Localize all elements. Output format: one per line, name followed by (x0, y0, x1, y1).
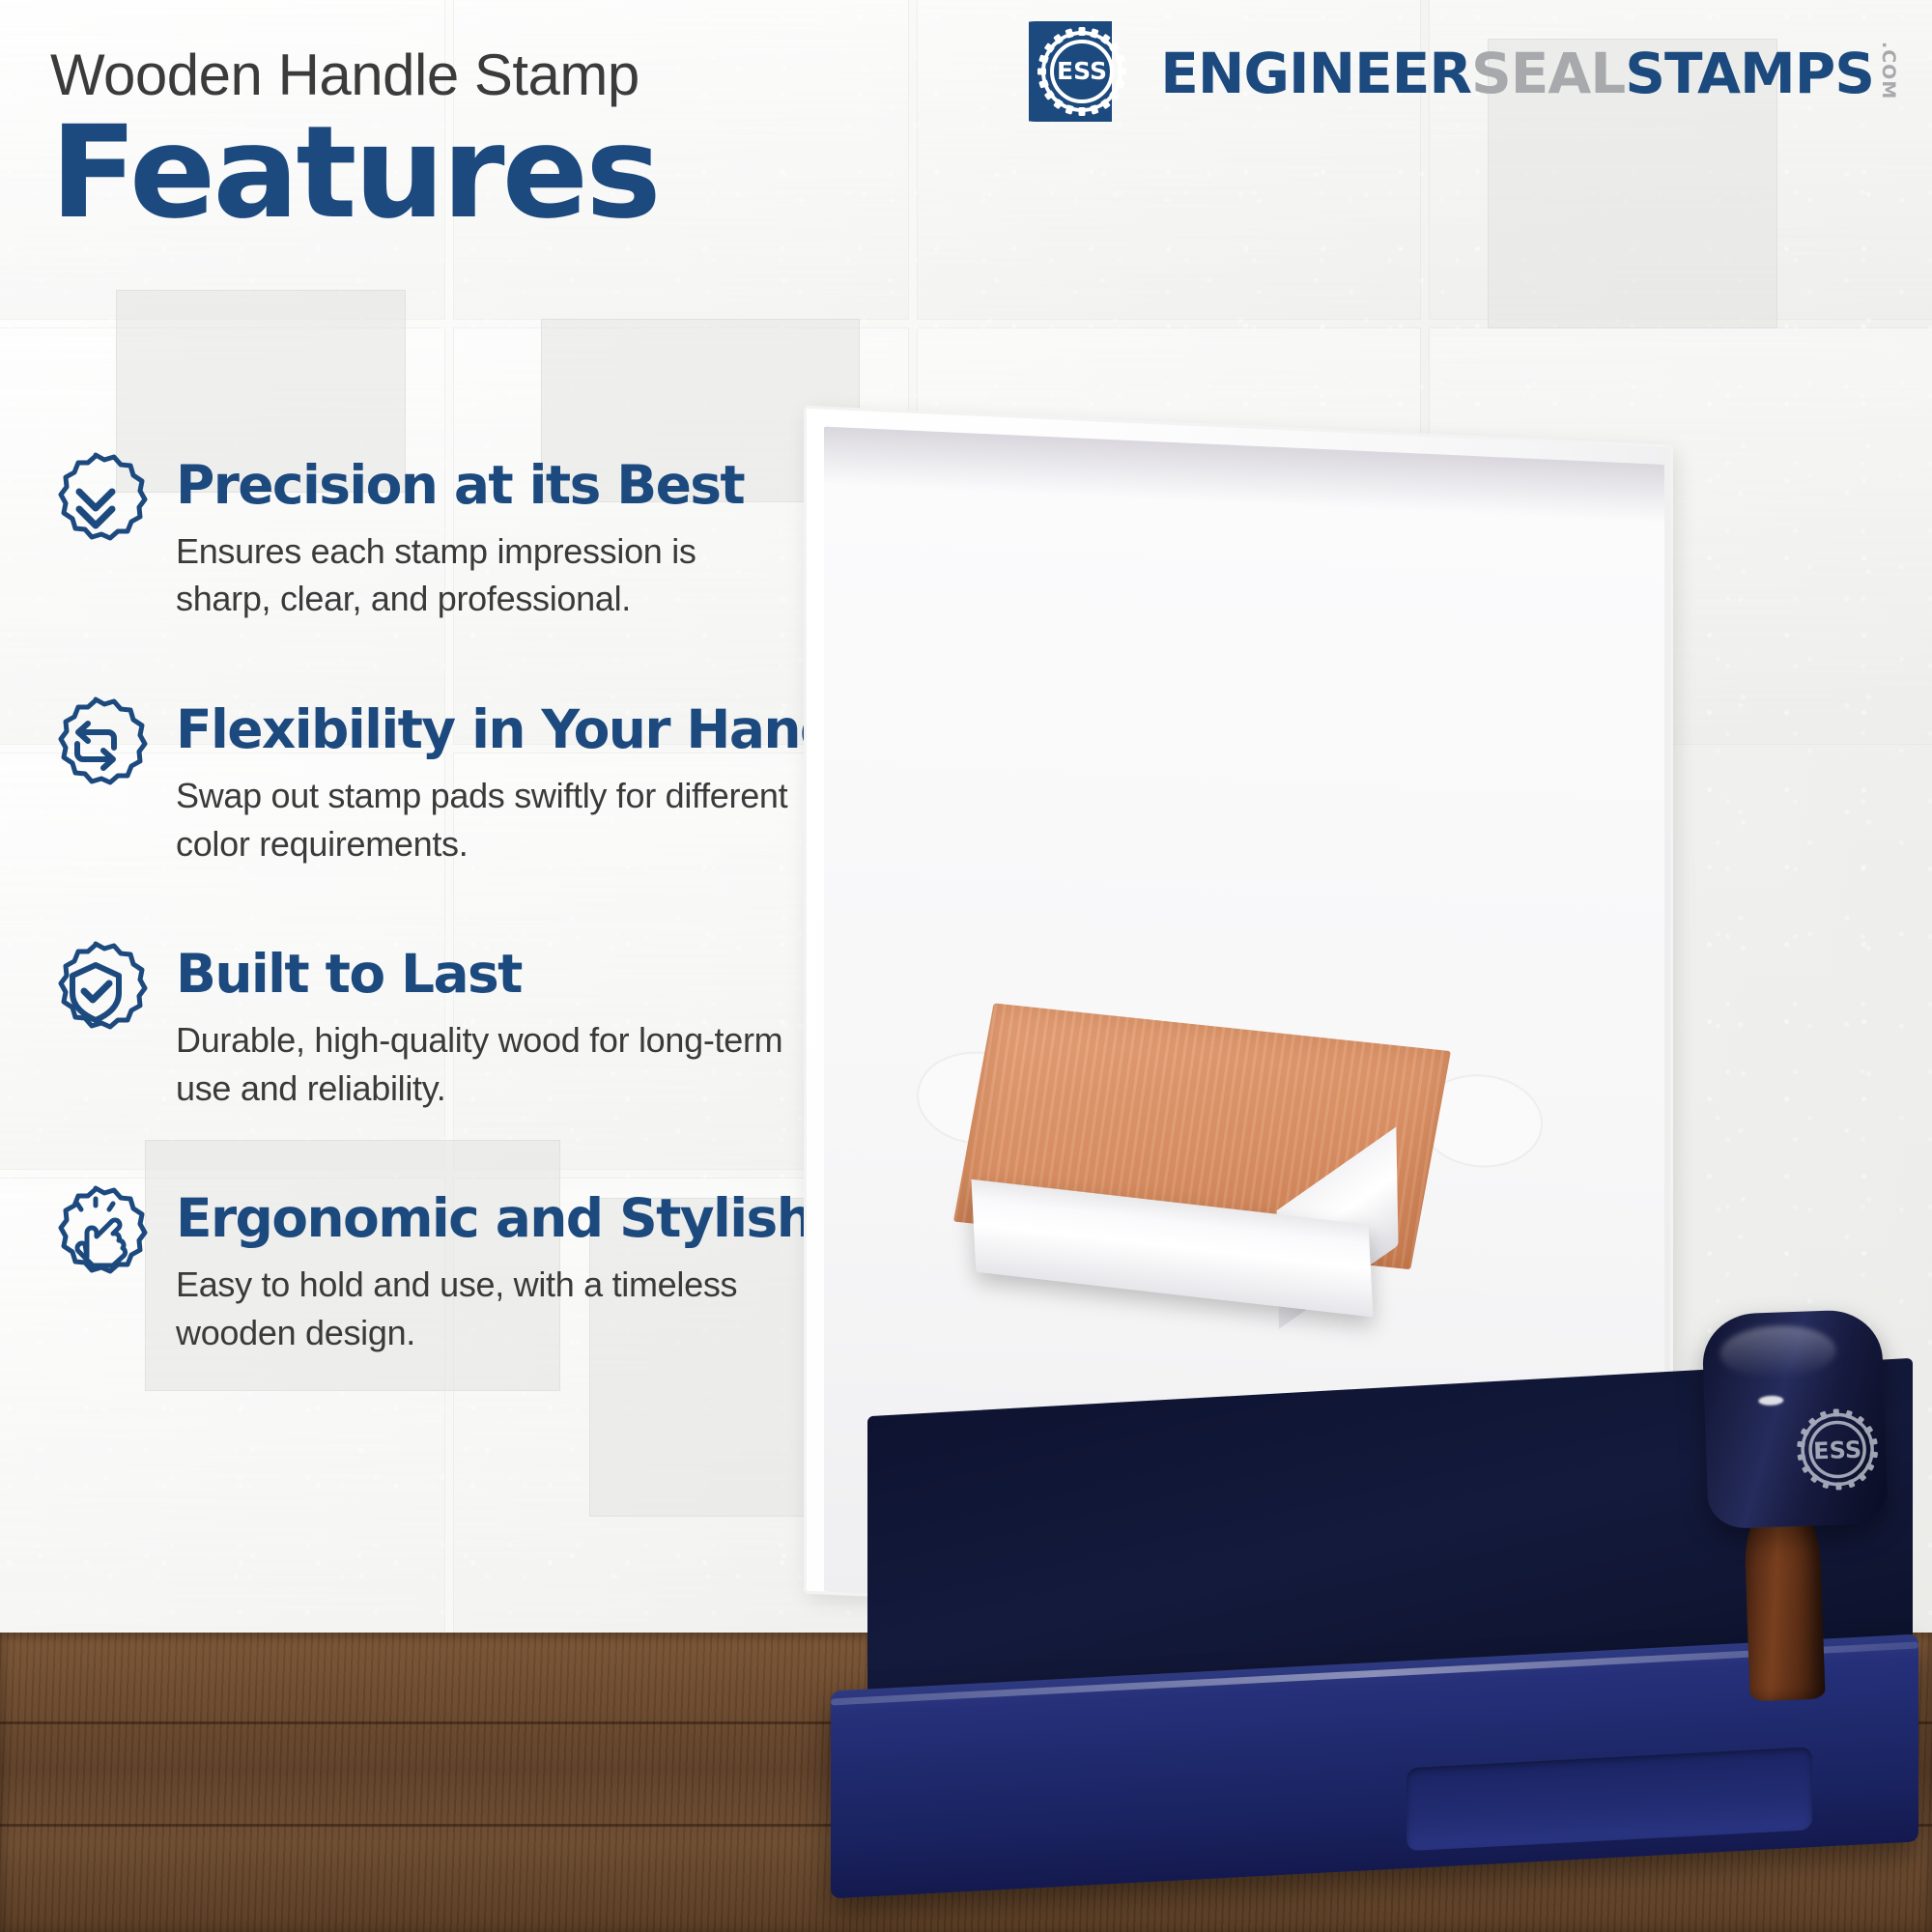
handle-ess-text: ESS (1813, 1436, 1862, 1465)
page-subtitle: Wooden Handle Stamp (50, 44, 1190, 105)
wordmark-stamps: STAMPS (1625, 45, 1874, 101)
page-header: Wooden Handle Stamp Features (50, 44, 1190, 236)
feature-description: Ensures each stamp impression is sharp, … (176, 527, 794, 623)
wordmark-com: .COM (1878, 42, 1899, 99)
stamp-handle-black-knob: ESS (1701, 1309, 1889, 1529)
feature-description: Durable, high-quality wood for long-term… (176, 1016, 794, 1112)
swap-arrows-badge-icon (43, 693, 149, 799)
feature-description: Easy to hold and use, with a timeless wo… (176, 1261, 794, 1356)
knob-specular-dot (1758, 1395, 1783, 1406)
brand-logo[interactable]: ESS ENGINEER SEAL STAMPS .COM (1029, 17, 1899, 126)
wordmark-engineer: ENGINEER (1160, 45, 1471, 101)
page-title: Features (50, 111, 1190, 236)
feature-description: Swap out stamp pads swiftly for differen… (176, 772, 794, 867)
wooden-stamp-block (970, 1012, 1450, 1355)
chevron-double-down-badge-icon (43, 448, 149, 554)
ess-gear-seal-icon: ESS (1029, 17, 1147, 126)
handle-ess-gear-icon: ESS (1785, 1398, 1889, 1502)
product-photo: ESS (763, 502, 1932, 1932)
pointing-hand-badge-icon (43, 1181, 149, 1288)
ess-monogram-text: ESS (1057, 57, 1107, 85)
box-thumb-notch (1406, 1747, 1812, 1851)
knob-highlight (1719, 1323, 1837, 1379)
brand-wordmark: ENGINEER SEAL STAMPS .COM (1160, 42, 1899, 101)
shield-check-badge-icon (43, 937, 149, 1043)
wordmark-seal: SEAL (1471, 45, 1625, 101)
